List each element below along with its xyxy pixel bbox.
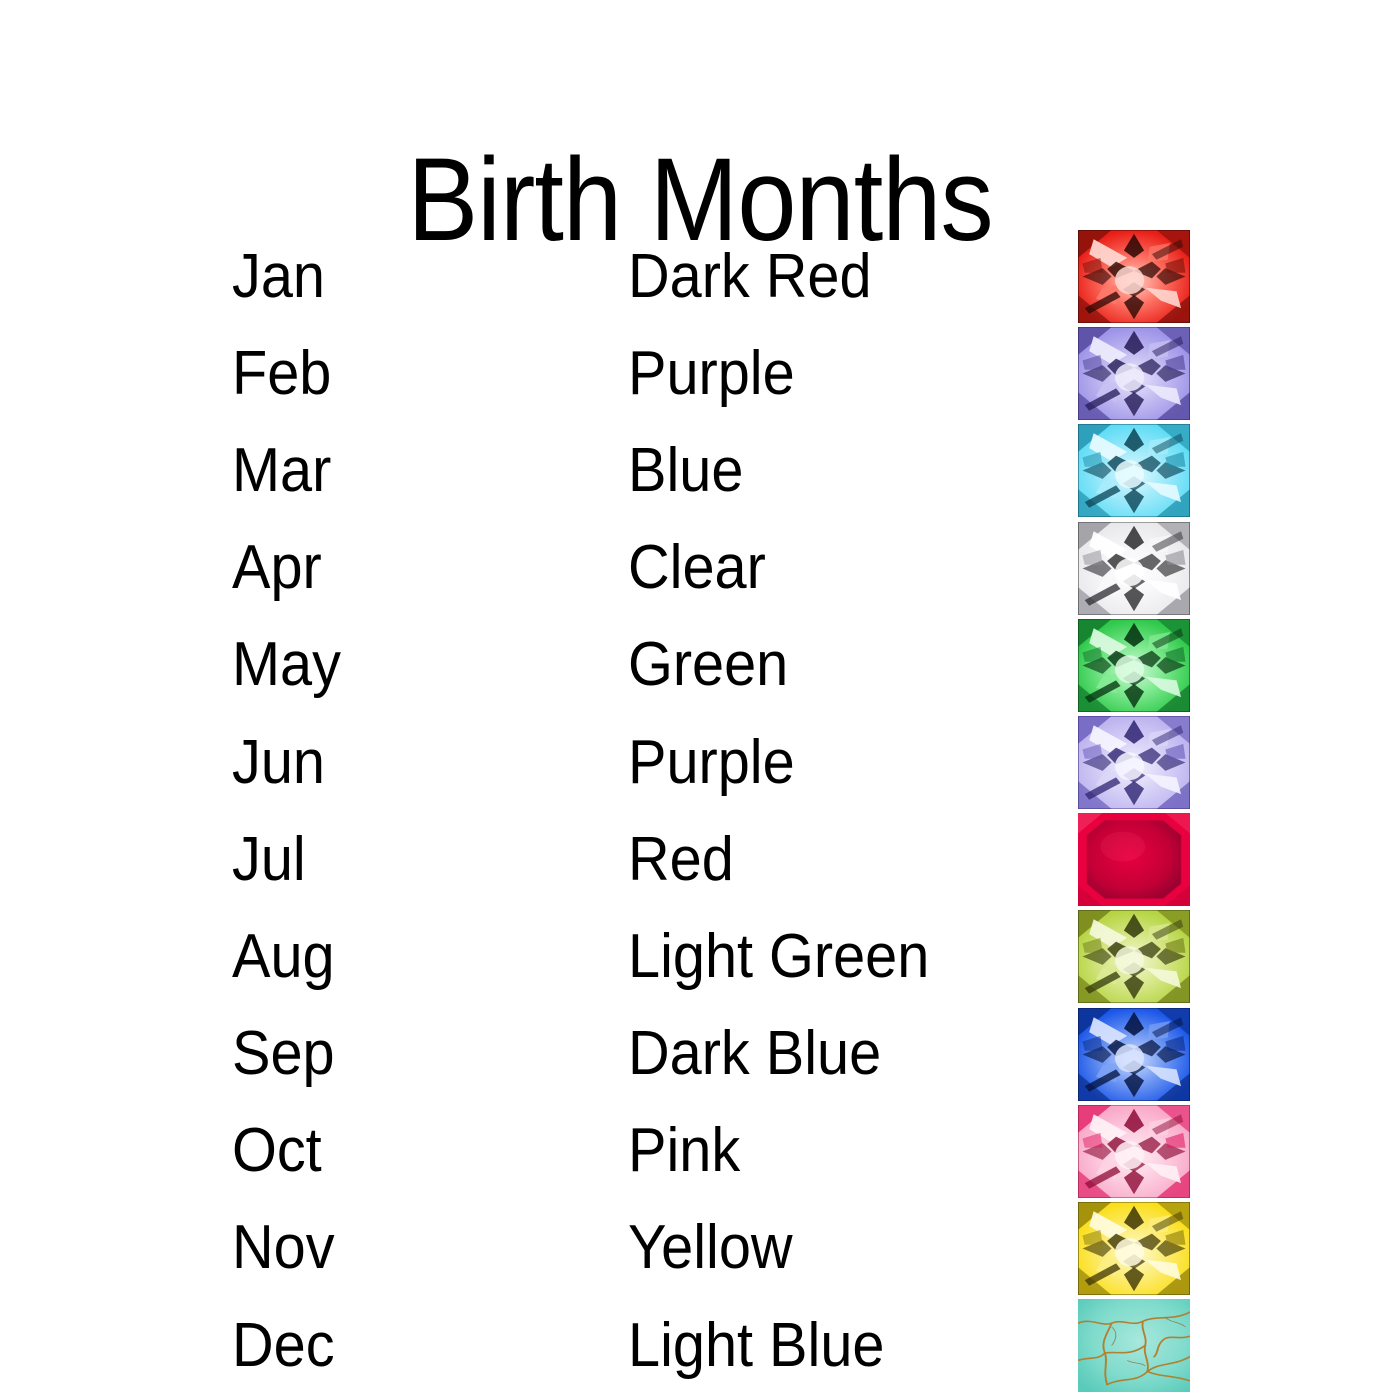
gem-facets [1078, 424, 1190, 517]
color-name-label: Yellow [628, 1217, 1047, 1279]
birth-months-table: JanDark Red FebPurple [232, 228, 1192, 1394]
table-row: JunPurple [232, 714, 1192, 811]
gemstone-cell [1078, 910, 1190, 1003]
month-label: Dec [232, 1315, 600, 1377]
gemstone-cell [1078, 1202, 1190, 1295]
month-label: Jul [232, 829, 600, 891]
table-row: MayGreen [232, 617, 1192, 714]
table-row: FebPurple [232, 325, 1192, 422]
gem-emerald-icon [1078, 619, 1190, 712]
month-label: Oct [232, 1120, 600, 1182]
month-label: May [232, 634, 600, 696]
gem-facets [1078, 1202, 1190, 1295]
table-row: AprClear [232, 520, 1192, 617]
gem-facets [1078, 522, 1190, 615]
month-label: Mar [232, 440, 600, 502]
gem-citrine-icon [1078, 1202, 1190, 1295]
gem-facets [1078, 716, 1190, 809]
table-row: SepDark Blue [232, 1006, 1192, 1103]
gem-facets [1078, 230, 1190, 323]
color-name-label: Light Blue [628, 1315, 1047, 1377]
color-name-label: Red [628, 829, 1047, 891]
page-root: Birth Months JanDark Red FebPurple [0, 0, 1400, 1400]
gem-facets [1078, 619, 1190, 712]
color-name-label: Blue [628, 440, 1047, 502]
table-row: OctPink [232, 1103, 1192, 1200]
gem-facets [1078, 1299, 1190, 1392]
gemstone-cell [1078, 1008, 1190, 1101]
month-label: Aug [232, 926, 600, 988]
gem-tourmaline-icon [1078, 1105, 1190, 1198]
gem-amethyst-icon [1078, 327, 1190, 420]
gem-facets [1078, 813, 1190, 906]
gem-sapphire-icon [1078, 1008, 1190, 1101]
gemstone-cell [1078, 327, 1190, 420]
gem-ruby-icon [1078, 813, 1190, 906]
color-name-label: Purple [628, 343, 1047, 405]
gemstone-cell [1078, 1105, 1190, 1198]
table-row: NovYellow [232, 1200, 1192, 1297]
gem-peridot-icon [1078, 910, 1190, 1003]
month-label: Nov [232, 1217, 600, 1279]
color-name-label: Dark Red [628, 246, 1047, 308]
gemstone-cell [1078, 424, 1190, 517]
gem-facets [1078, 1008, 1190, 1101]
table-row: DecLight Blue [232, 1297, 1192, 1394]
gem-facets [1078, 1105, 1190, 1198]
month-label: Apr [232, 537, 600, 599]
gemstone-cell [1078, 1299, 1190, 1392]
color-name-label: Pink [628, 1120, 1047, 1182]
table-row: MarBlue [232, 422, 1192, 519]
gem-diamond-icon [1078, 522, 1190, 615]
color-name-label: Purple [628, 732, 1047, 794]
table-row: AugLight Green [232, 908, 1192, 1005]
gem-turquoise-icon [1078, 1299, 1190, 1392]
color-name-label: Light Green [628, 926, 1047, 988]
gem-alexandrite-icon [1078, 716, 1190, 809]
gemstone-cell [1078, 716, 1190, 809]
color-name-label: Clear [628, 537, 1047, 599]
month-label: Sep [232, 1023, 600, 1085]
month-label: Feb [232, 343, 600, 405]
gem-facets [1078, 327, 1190, 420]
gemstone-cell [1078, 619, 1190, 712]
color-name-label: Dark Blue [628, 1023, 1047, 1085]
gem-aquamarine-icon [1078, 424, 1190, 517]
gem-facets [1078, 910, 1190, 1003]
gemstone-cell [1078, 813, 1190, 906]
gemstone-cell [1078, 230, 1190, 323]
month-label: Jan [232, 246, 600, 308]
color-name-label: Green [628, 634, 1047, 696]
gemstone-cell [1078, 522, 1190, 615]
gem-garnet-icon [1078, 230, 1190, 323]
month-label: Jun [232, 732, 600, 794]
table-row: JanDark Red [232, 228, 1192, 325]
table-row: JulRed [232, 811, 1192, 908]
